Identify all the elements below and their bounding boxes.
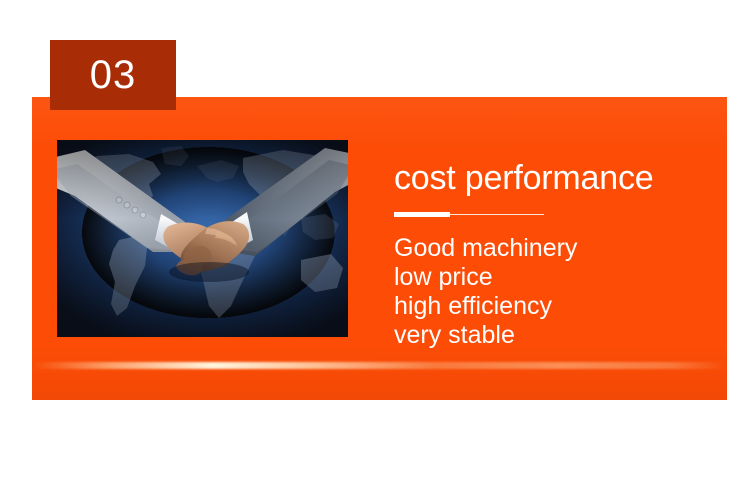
section-number-text: 03 bbox=[90, 55, 137, 95]
slide-root: 03 bbox=[0, 0, 750, 481]
page-title: cost performance bbox=[394, 160, 704, 197]
text-content-block: cost performance Good machinery low pric… bbox=[394, 160, 704, 350]
list-item: high efficiency bbox=[394, 292, 704, 321]
divider-thick-segment bbox=[394, 212, 450, 217]
divider-thin-segment bbox=[450, 214, 544, 215]
section-number-badge: 03 bbox=[50, 40, 176, 110]
list-item: low price bbox=[394, 263, 704, 292]
top-light-streak bbox=[176, 97, 727, 102]
title-divider bbox=[394, 212, 544, 217]
bottom-light-streak bbox=[32, 362, 727, 372]
handshake-photo-graphic bbox=[57, 140, 348, 337]
bullet-list: Good machinery low price high efficiency… bbox=[394, 234, 704, 350]
handshake-photo bbox=[57, 140, 348, 337]
list-item: Good machinery bbox=[394, 234, 704, 263]
list-item: very stable bbox=[394, 321, 704, 350]
